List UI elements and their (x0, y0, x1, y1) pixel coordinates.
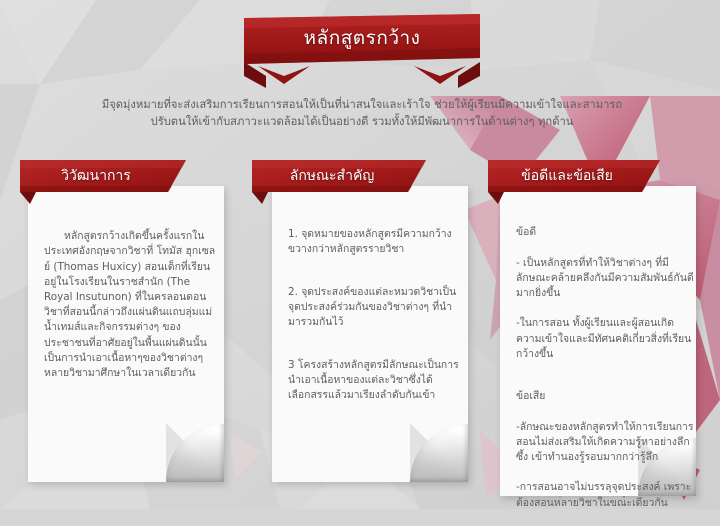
card-body-pros-and-cons: ข้อดี - เป็นหลักสูตรที่ทำให้วิชาต่างๆ ที… (516, 210, 694, 526)
header-label-evolution: วิวัฒนาการ (20, 160, 186, 192)
intro-text: มีจุดมุ่งหมายที่จะส่งเสริมการเรียนการสอน… (42, 96, 682, 130)
cons-item: -การสอนอาจไม่บรรลุจุดประสงค์ เพราะต้องสอ… (516, 480, 694, 510)
paragraph: 3 โครงสร้างหลักสูตรมีลักษณะเป็นการนำเอาเ… (288, 358, 464, 404)
header-ribbon-pros-and-cons: ข้อดีและข้อเสีย (488, 160, 660, 192)
cons-item: -ลักษณะของหลักสูตรทำให้การเรียนการสอนไม่… (516, 420, 694, 466)
pros-item: -ในการสอน ทั้งผู้เรียนและผู้สอนเกิดความเ… (516, 316, 694, 362)
banner-title: หลักสูตรกว้าง (244, 14, 480, 62)
intro-line-2: ปรับตนให้เข้ากับสภาวะแวดล้อมได้เป็นอย่าง… (42, 113, 682, 130)
header-ribbon-key-characteristics: ลักษณะสำคัญ (252, 160, 426, 192)
paragraph: หลักสูตรกว้างเกิดขึ้นครั้งแรกในประเทศอัง… (44, 229, 220, 381)
card-body-key-characteristics: 1. จุดหมายของหลักสูตรมีความกว้างขวางกว่า… (288, 212, 464, 418)
intro-line-1: มีจุดมุ่งหมายที่จะส่งเสริมการเรียนการสอน… (42, 96, 682, 113)
banner: หลักสูตรกว้าง (244, 14, 480, 88)
header-label-pros-and-cons: ข้อดีและข้อเสีย (488, 160, 660, 192)
header-ribbon-evolution: วิวัฒนาการ (20, 160, 186, 192)
paragraph: 1. จุดหมายของหลักสูตรมีความกว้างขวางกว่า… (288, 227, 464, 257)
cons-label: ข้อเสีย (516, 389, 694, 404)
pros-item: - เป็นหลักสูตรที่ทำให้วิชาต่างๆ ที่มีลัก… (516, 256, 694, 302)
paragraph: 2. จุดประสงค์ของแต่ละหมวดวิชาเป็นจุดประส… (288, 285, 464, 331)
pros-label: ข้อดี (516, 225, 694, 240)
card-body-evolution: หลักสูตรกว้างเกิดขึ้นครั้งแรกในประเทศอัง… (44, 214, 220, 396)
header-label-key-characteristics: ลักษณะสำคัญ (252, 160, 426, 192)
